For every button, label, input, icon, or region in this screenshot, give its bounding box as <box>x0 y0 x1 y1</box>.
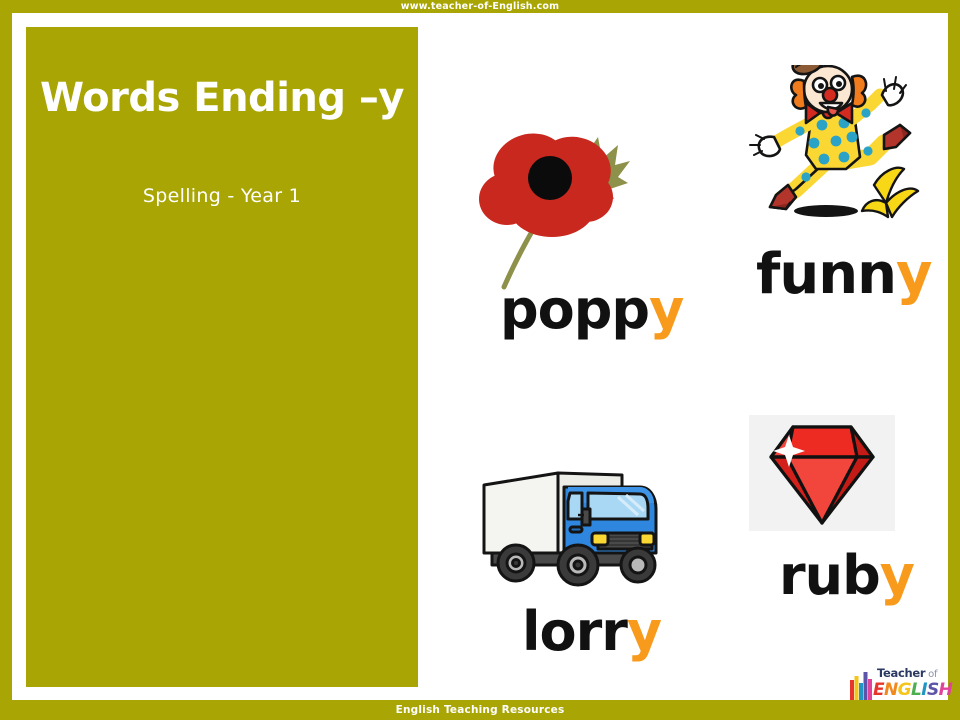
clown-slipping-icon <box>734 65 939 260</box>
lorry-truck-icon <box>472 453 692 603</box>
word-ending-poppy: y <box>649 278 683 341</box>
logo-letter-g: G <box>898 680 911 700</box>
word-stem-funny: funn <box>756 242 896 307</box>
logo-letter-l: L <box>911 680 921 700</box>
word-card-poppy: poppy <box>452 123 682 363</box>
logo-letter-h: H <box>939 680 953 700</box>
books-stack-icon <box>850 670 872 704</box>
word-label-poppy: poppy <box>500 283 683 337</box>
word-stem-ruby: rub <box>779 544 880 607</box>
logo-text-teacher: Teacher of <box>877 666 937 680</box>
slide-canvas: www.teacher-of-English.com Words Ending … <box>0 0 960 720</box>
word-card-ruby: ruby <box>747 413 947 628</box>
logo-letter-n: N <box>884 680 898 700</box>
word-stem-poppy: popp <box>500 278 649 341</box>
teacher-of-english-logo[interactable]: Teacher of ENGLISH <box>850 665 954 705</box>
ruby-gem-icon <box>747 413 897 543</box>
word-ending-ruby: y <box>880 544 914 607</box>
logo-letter-e: E <box>873 680 884 700</box>
top-website-banner: www.teacher-of-English.com <box>0 0 960 13</box>
poppy-flower-icon <box>452 123 662 303</box>
word-card-lorry: lorry <box>472 453 707 673</box>
logo-word-teacher: Teacher <box>877 666 925 680</box>
logo-word-of: of <box>925 669 937 680</box>
word-stem-lorry: lorr <box>522 600 627 663</box>
title-panel: Words Ending –y Spelling - Year 1 <box>26 27 418 687</box>
page-title: Words Ending –y <box>26 75 418 121</box>
bottom-resources-banner: English Teaching Resources <box>0 700 960 720</box>
slide-content-area: Words Ending –y Spelling - Year 1 poppy <box>12 13 948 700</box>
word-ending-lorry: y <box>627 600 661 663</box>
word-label-ruby: ruby <box>779 549 914 603</box>
word-card-funny: funny <box>734 65 949 315</box>
logo-letter-s: S <box>927 680 939 700</box>
word-label-funny: funny <box>756 247 931 303</box>
word-ending-funny: y <box>896 242 932 307</box>
logo-text-english: ENGLISH <box>873 680 952 700</box>
page-subtitle: Spelling - Year 1 <box>26 185 418 207</box>
word-label-lorry: lorry <box>522 605 661 659</box>
